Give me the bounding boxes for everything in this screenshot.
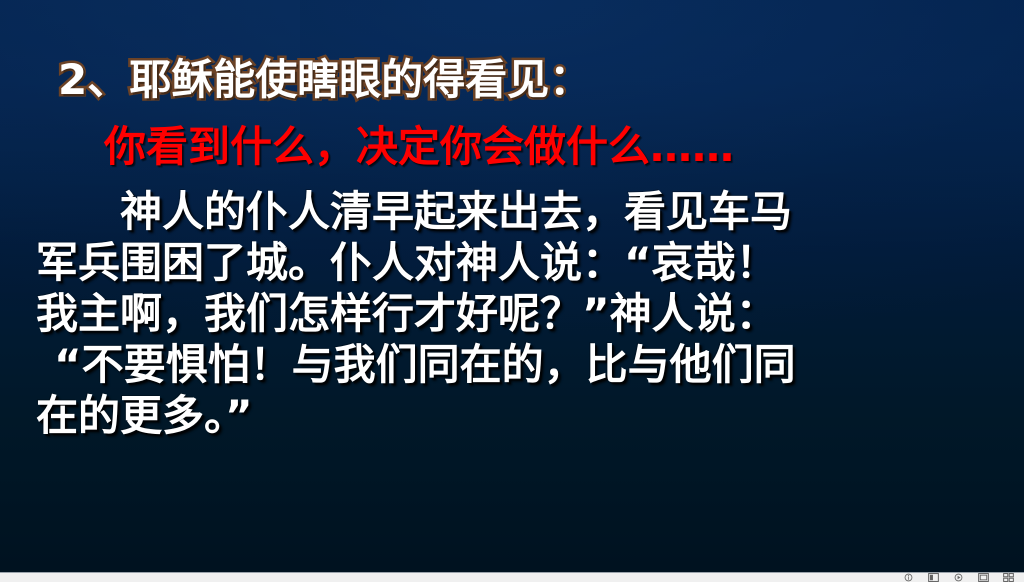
view-buttons-group <box>903 573 1014 582</box>
presentation-window: 2、耶稣能使瞎眼的得看见： 你看到什么，决定你会做什么…… 神人的仆人清早起来出… <box>0 0 1024 582</box>
paragraph-line: 军兵围困了城。仆人对神人说：“哀哉！ <box>36 237 996 288</box>
normal-view-icon[interactable] <box>953 573 964 582</box>
notes-icon[interactable] <box>928 573 939 582</box>
slide-heading[interactable]: 2、耶稣能使瞎眼的得看见： <box>58 55 591 105</box>
status-bar <box>0 572 1024 582</box>
slide-sorter-icon[interactable] <box>1003 573 1014 582</box>
paragraph-line: “不要惧怕！与我们同在的，比与他们同 <box>36 339 996 390</box>
paragraph-line: 在的更多。” <box>36 390 996 441</box>
slide-paragraph[interactable]: 神人的仆人清早起来出去，看见车马 军兵围困了城。仆人对神人说：“哀哉！ 我主啊，… <box>36 186 996 441</box>
accessibility-icon[interactable] <box>903 573 914 582</box>
slide-canvas[interactable]: 2、耶稣能使瞎眼的得看见： 你看到什么，决定你会做什么…… 神人的仆人清早起来出… <box>0 0 1024 572</box>
slide-subheading[interactable]: 你看到什么，决定你会做什么…… <box>104 122 734 172</box>
paragraph-line: 我主啊，我们怎样行才好呢？”神人说： <box>36 288 996 339</box>
background-band-right <box>300 0 1024 210</box>
reading-view-icon[interactable] <box>978 573 989 582</box>
paragraph-line: 神人的仆人清早起来出去，看见车马 <box>36 186 996 237</box>
